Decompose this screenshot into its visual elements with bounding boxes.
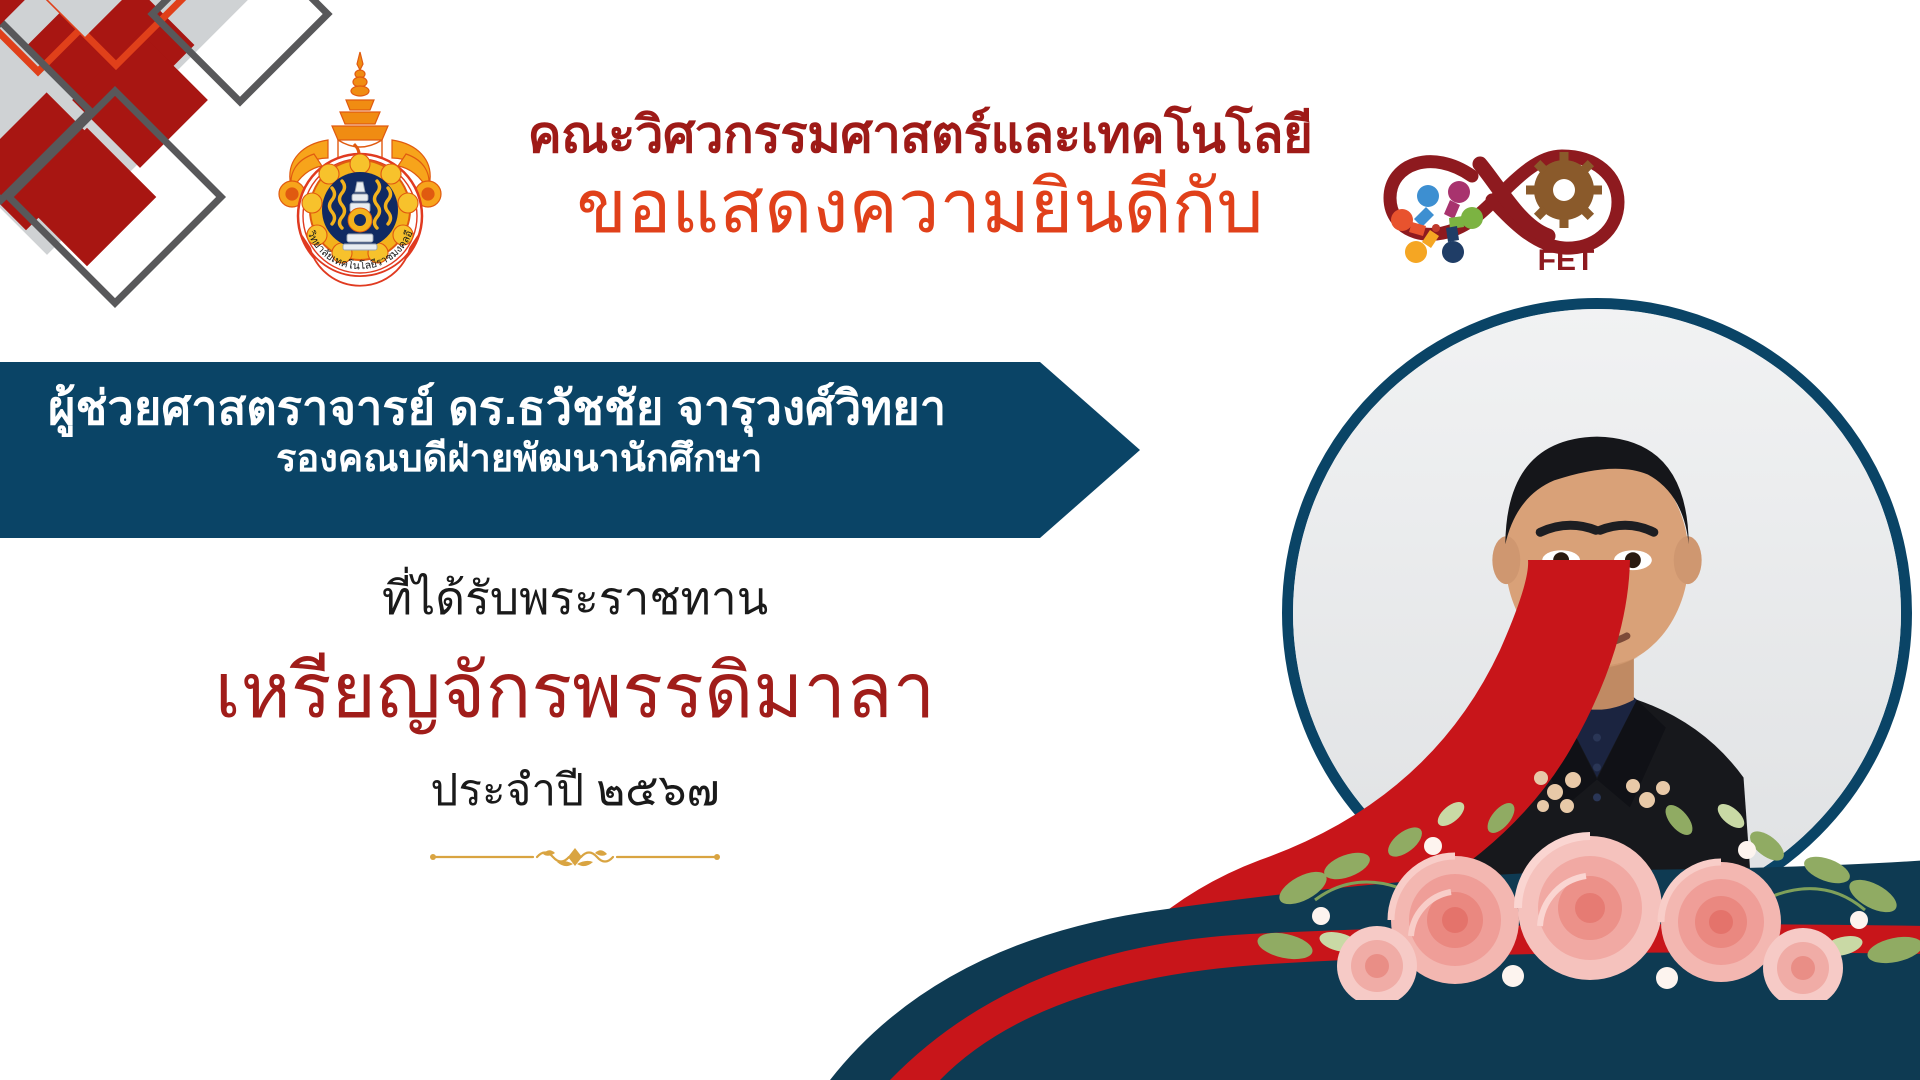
header-section: มหาวิทยาลัยเทคโนโลยีราชมงคลอีสาน คณะวิศว…: [0, 0, 1920, 340]
portrait-photo-circle: [1282, 298, 1912, 928]
banner-canvas: มหาวิทยาลัยเทคโนโลยีราชมงคลอีสาน คณะวิศว…: [0, 0, 1920, 1080]
portrait-figure: [1293, 309, 1901, 917]
award-year: ประจำปี ๒๕๖๗: [0, 763, 1150, 818]
medal-name: เหรียญจักรพรรดิมาลา: [0, 644, 1150, 739]
gold-flourish-divider: [425, 840, 725, 874]
congratulations-title: ขอแสดงความยินดีกับ: [470, 166, 1370, 247]
name-banner: ผู้ช่วยศาสตราจารย์ ดร.ธวัชชัย จารุวงศ์วิ…: [0, 362, 1140, 538]
award-text-block: ที่ได้รับพระราชทาน เหรียญจักรพรรดิมาลา ป…: [0, 570, 1150, 879]
rmuti-seal-logo: มหาวิทยาลัยเทคโนโลยีราชมงคลอีสาน: [258, 48, 463, 288]
fet-infinity-logo: FET: [1380, 130, 1630, 275]
portrait-ring: [1282, 298, 1912, 928]
faculty-title: คณะวิศวกรรมศาสตร์และเทคโนโลยี: [470, 108, 1370, 162]
header-text-block: คณะวิศวกรรมศาสตร์และเทคโนโลยี ขอแสดงความ…: [470, 108, 1370, 247]
fet-logo-text: FET: [1538, 244, 1595, 275]
honoree-name: ผู้ช่วยศาสตราจารย์ ดร.ธวัชชัย จารุวงศ์วิ…: [48, 380, 1140, 435]
awarded-prefix: ที่ได้รับพระราชทาน: [0, 570, 1150, 628]
honoree-role: รองคณบดีฝ่ายพัฒนานักศึกษา: [48, 437, 1140, 483]
